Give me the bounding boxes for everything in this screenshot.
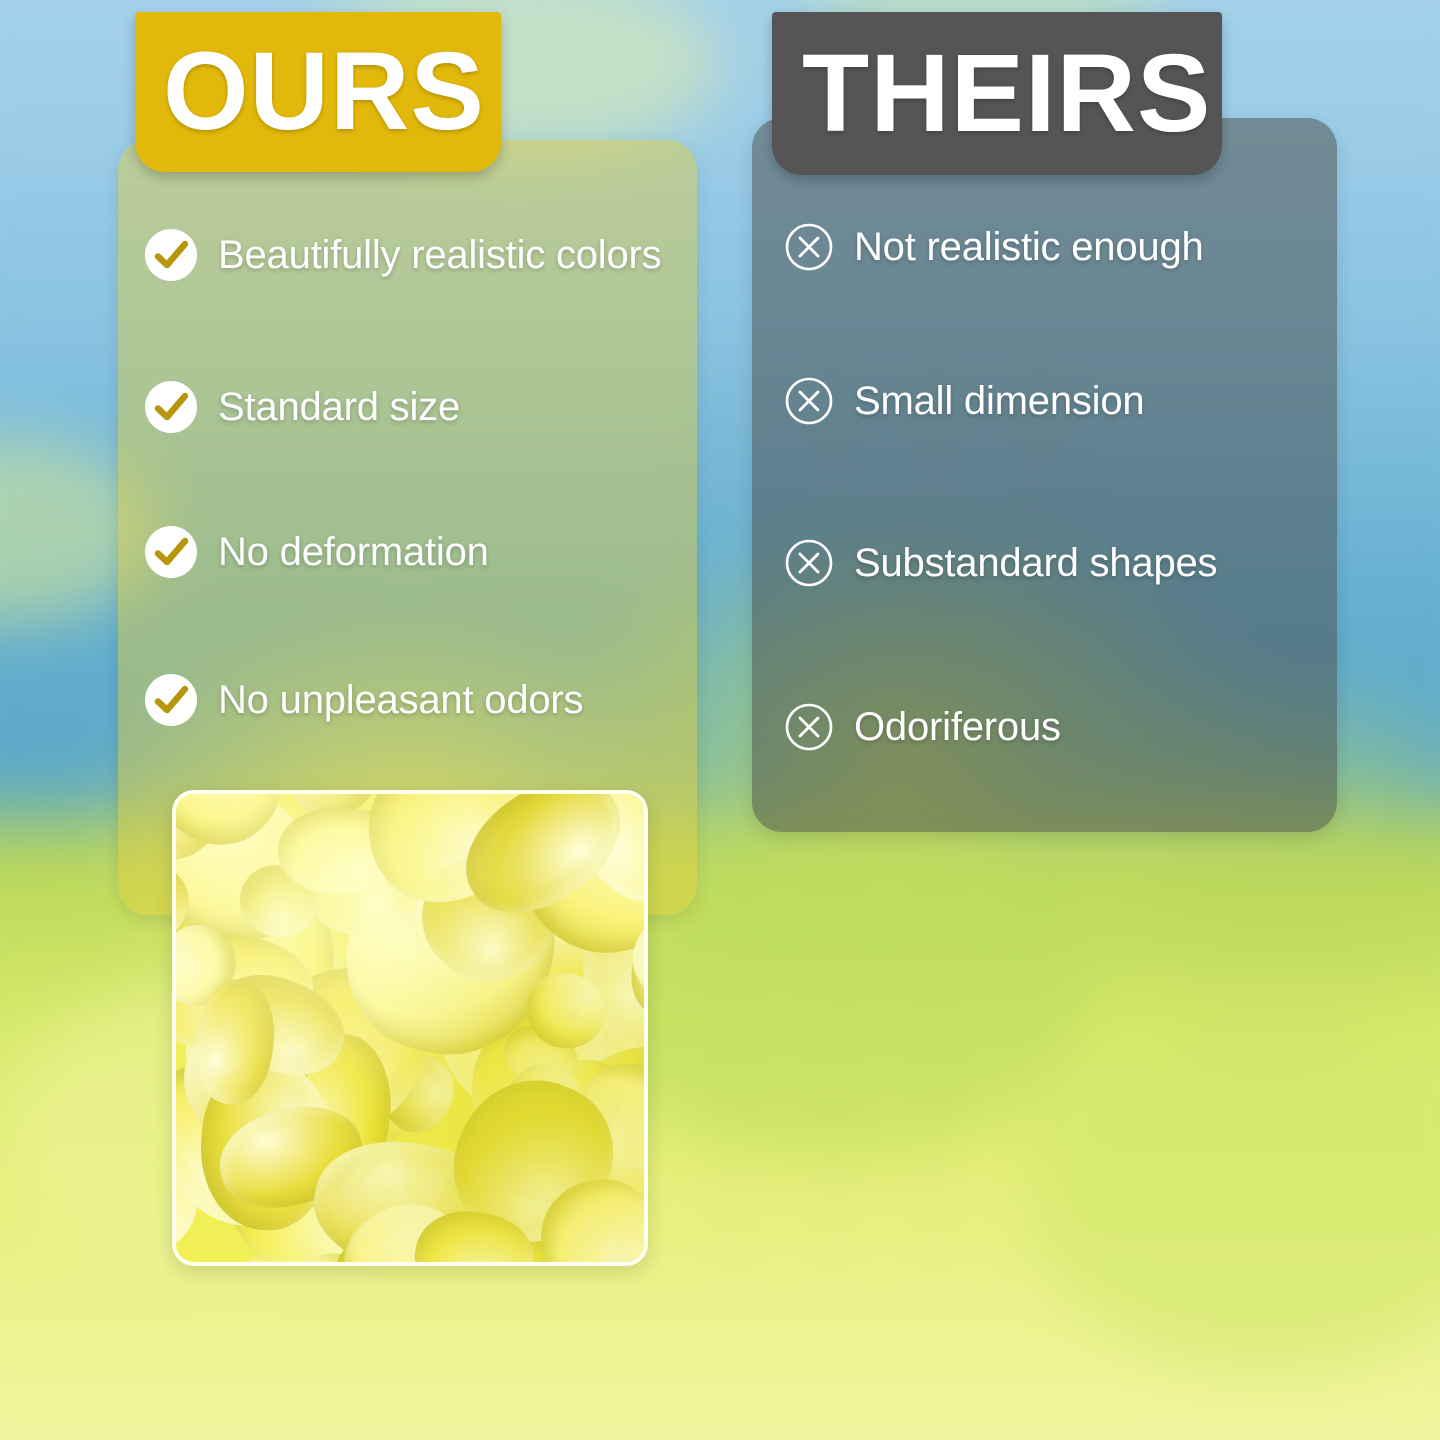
theirs-feature-row: Odoriferous	[784, 702, 1061, 752]
x-circle-icon	[784, 376, 834, 426]
theirs-panel: Not realistic enoughSmall dimensionSubst…	[752, 118, 1337, 832]
theirs-feature-row: Not realistic enough	[784, 222, 1204, 272]
rose-petal	[645, 1098, 648, 1266]
theirs-badge: THEIRS	[772, 12, 1222, 175]
rose-petal	[645, 1039, 648, 1158]
x-circle-icon	[784, 222, 834, 272]
theirs-feature-row: Substandard shapes	[784, 538, 1217, 588]
product-photo-inset	[172, 790, 648, 1266]
ours-feature-label: Beautifully realistic colors	[218, 233, 661, 278]
ours-feature-row: Standard size	[144, 380, 460, 434]
ours-badge-label: OURS	[163, 37, 485, 147]
check-circle-icon	[144, 228, 198, 282]
rose-petal	[645, 878, 648, 974]
theirs-feature-row: Small dimension	[784, 376, 1144, 426]
theirs-feature-label: Odoriferous	[854, 705, 1061, 750]
check-circle-icon	[144, 673, 198, 727]
x-circle-icon	[784, 702, 834, 752]
ours-feature-label: Standard size	[218, 385, 460, 430]
theirs-feature-label: Not realistic enough	[854, 225, 1204, 270]
theirs-badge-label: THEIRS	[802, 39, 1211, 149]
theirs-feature-label: Substandard shapes	[854, 541, 1217, 586]
x-circle-icon	[784, 538, 834, 588]
theirs-feature-label: Small dimension	[854, 379, 1144, 424]
ours-feature-row: Beautifully realistic colors	[144, 228, 661, 282]
ours-feature-label: No deformation	[218, 530, 489, 575]
ours-badge: OURS	[135, 12, 501, 172]
rose-petal	[644, 876, 648, 968]
ours-feature-row: No deformation	[144, 525, 489, 579]
check-circle-icon	[144, 380, 198, 434]
theirs-feature-list: Not realistic enoughSmall dimensionSubst…	[752, 118, 1337, 832]
photo-highlight-overlay	[176, 794, 644, 1262]
check-circle-icon	[144, 525, 198, 579]
comparison-infographic: Beautifully realistic colorsStandard siz…	[0, 0, 1440, 1440]
ours-feature-row: No unpleasant odors	[144, 673, 583, 727]
ours-feature-label: No unpleasant odors	[218, 678, 583, 723]
